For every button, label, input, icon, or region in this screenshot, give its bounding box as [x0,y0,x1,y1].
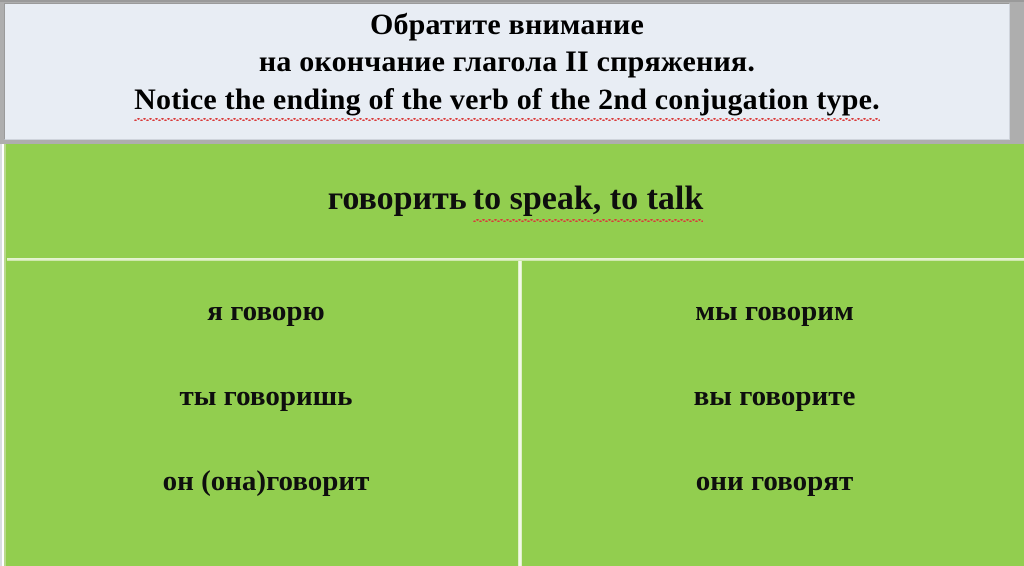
notice-line-russian-1: Обратите внимание [370,8,644,43]
notice-box: Обратите внимание на окончание глагола I… [4,3,1010,140]
verb-title-row: говоритьto speak, to talk [7,144,1024,258]
conjugation-cell-2sg: ты говоришь [7,354,525,438]
slide-top-border [0,0,1024,2]
verb-title: говоритьto speak, to talk [328,180,704,222]
conjugation-cell-3sg: он (она)говорит [7,439,525,523]
conjugation-grid: я говорю ты говоришь он (она)говорит мы … [7,261,1024,566]
conjugation-cell-3pl: они говорят [525,439,1024,523]
table-left-edge [0,144,7,566]
conjugation-cell-2pl: вы говорите [525,354,1024,438]
conjugation-column-plural: мы говорим вы говорите они говорят [525,261,1024,566]
slide-canvas: Обратите внимание на окончание глагола I… [0,0,1024,566]
conjugation-cell-1pl: мы говорим [525,269,1024,353]
verb-conjugation-table: говоритьto speak, to talk я говорю ты го… [0,144,1024,566]
verb-title-english: to speak, to talk [473,180,703,222]
verb-title-russian: говорить [328,180,467,217]
conjugation-cell-1sg: я говорю [7,269,525,353]
notice-line-english-text: Notice the ending of the verb of the 2nd… [134,83,880,122]
conjugation-column-singular: я говорю ты говоришь он (она)говорит [7,261,525,566]
notice-line-english: Notice the ending of the verb of the 2nd… [134,83,880,122]
notice-line-russian-2: на окончание глагола II спряжения. [259,45,755,80]
